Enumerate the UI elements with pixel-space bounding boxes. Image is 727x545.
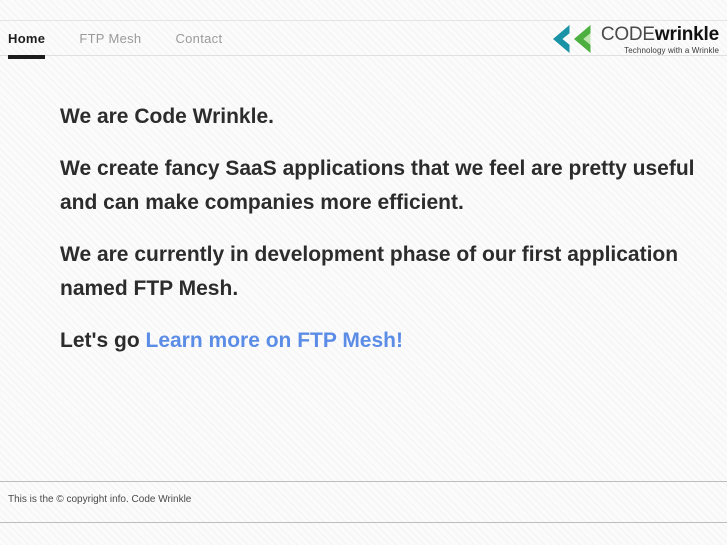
logo-tagline: Technology with a Wrinkle xyxy=(601,47,719,55)
site-header: Home FTP Mesh Contact CODEwrinkle Techno… xyxy=(0,20,727,56)
nav-item-home[interactable]: Home xyxy=(8,21,45,56)
site-logo[interactable]: CODEwrinkle Technology with a Wrinkle xyxy=(552,23,719,55)
nav-item-contact[interactable]: Contact xyxy=(175,21,222,56)
page-lede: We are Code Wrinkle. xyxy=(60,100,727,134)
paragraph-about: We create fancy SaaS applications that w… xyxy=(60,152,727,220)
logo-wordmark: CODEwrinkle xyxy=(601,24,719,45)
site-footer: This is the © copyright info. Code Wrink… xyxy=(0,481,727,523)
cta-line: Let's go Learn more on FTP Mesh! xyxy=(60,324,727,358)
learn-more-ftp-mesh-link[interactable]: Learn more on FTP Mesh! xyxy=(146,329,404,352)
paragraph-development: We are currently in development phase of… xyxy=(60,238,727,306)
nav-item-home-label: Home xyxy=(8,31,45,46)
logo-word-code: CODE xyxy=(601,24,655,45)
nav-item-contact-label: Contact xyxy=(175,31,222,46)
main-navigation: Home FTP Mesh Contact xyxy=(8,21,256,56)
nav-item-ftp-mesh-label: FTP Mesh xyxy=(79,31,141,46)
double-chevron-left-logo-mark-icon xyxy=(552,24,594,54)
nav-item-ftp-mesh[interactable]: FTP Mesh xyxy=(79,21,141,56)
logo-word-wrinkle: wrinkle xyxy=(655,24,719,45)
logo-text-block: CODEwrinkle Technology with a Wrinkle xyxy=(601,24,719,55)
page-root: Home FTP Mesh Contact CODEwrinkle Techno… xyxy=(0,0,727,545)
main-content: We are Code Wrinkle. We create fancy Saa… xyxy=(60,100,727,358)
footer-copyright: This is the © copyright info. Code Wrink… xyxy=(8,494,191,505)
cta-prefix-text: Let's go xyxy=(60,329,146,352)
